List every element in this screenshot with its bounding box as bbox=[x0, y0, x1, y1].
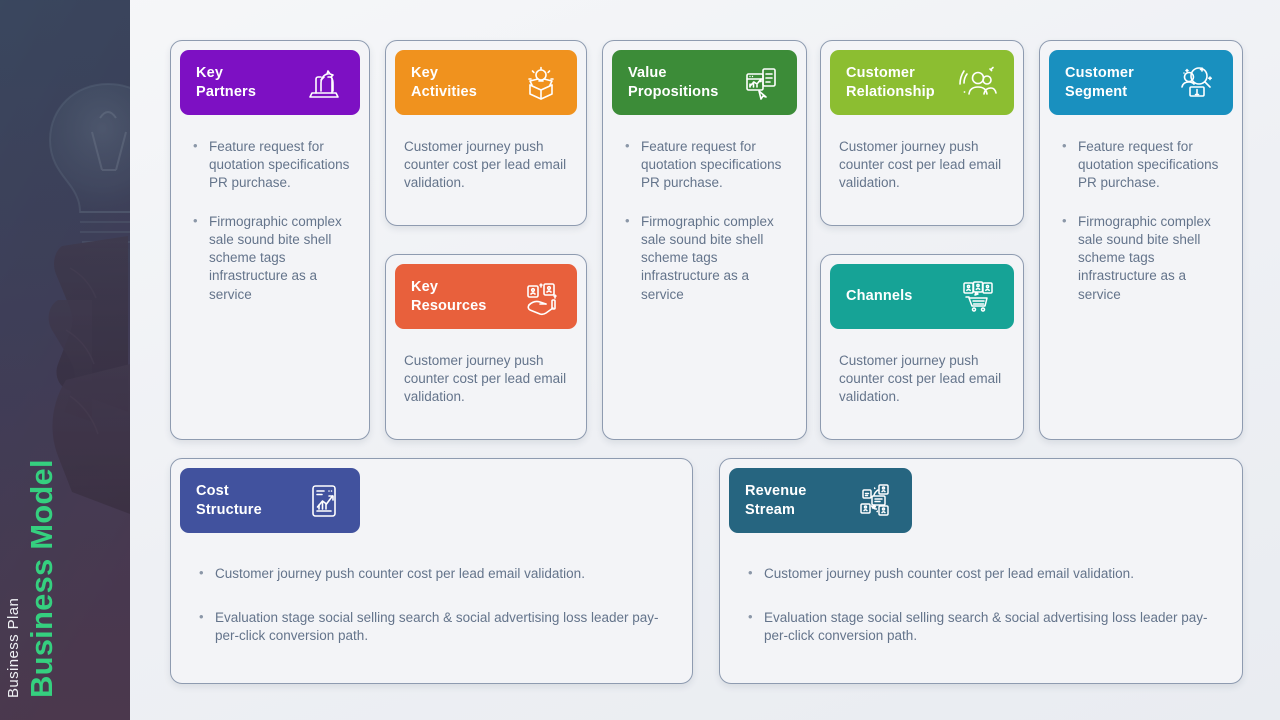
card-value-propositions[interactable]: Value Propositions Feature reques bbox=[602, 40, 807, 440]
card-text: Customer journey push counter cost per l… bbox=[839, 352, 1005, 407]
list-item: Evaluation stage social selling search &… bbox=[195, 609, 668, 645]
list-item: Firmographic complex sale sound bite she… bbox=[1058, 213, 1224, 304]
card-title: Key Partners bbox=[196, 64, 256, 101]
card-title: Revenue Stream bbox=[745, 482, 807, 519]
card-revenue-stream[interactable]: Revenue Stream bbox=[719, 458, 1243, 684]
card-body: Feature request for quotation specificat… bbox=[603, 124, 806, 429]
card-body: Customer journey push counter cost per l… bbox=[171, 545, 692, 673]
card-header-key-activities: Key Activities bbox=[395, 50, 577, 115]
card-title: Cost Structure bbox=[196, 482, 262, 519]
card-title: Key Resources bbox=[411, 278, 487, 315]
card-header-cost-structure: Cost Structure bbox=[180, 468, 360, 533]
list-item: Customer journey push counter cost per l… bbox=[744, 565, 1218, 583]
bullet-list: Feature request for quotation specificat… bbox=[621, 138, 788, 304]
list-item: Firmographic complex sale sound bite she… bbox=[189, 213, 351, 304]
card-channels[interactable]: Channels bbox=[820, 254, 1024, 440]
card-body: Customer journey push counter cost per l… bbox=[821, 124, 1023, 215]
card-title: Key Activities bbox=[411, 64, 477, 101]
document-growth-chart-icon bbox=[302, 479, 346, 523]
card-title: Channels bbox=[846, 287, 912, 306]
card-header-key-resources: Key Resources bbox=[395, 264, 577, 329]
bullet-list: Feature request for quotation specificat… bbox=[1058, 138, 1224, 304]
card-header-key-partners: Key Partners bbox=[180, 50, 360, 115]
card-header-channels: Channels bbox=[830, 264, 1014, 329]
card-title: Customer Segment bbox=[1065, 64, 1134, 101]
sidebar-subtitle: Business Plan bbox=[5, 598, 22, 698]
business-model-canvas: Business Model Business Plan Key Partner… bbox=[0, 0, 1280, 720]
card-cost-structure[interactable]: Cost Structure Customer journey push cou… bbox=[170, 458, 693, 684]
chess-knight-laptop-icon bbox=[302, 61, 346, 105]
person-magnifier-icon bbox=[1175, 61, 1219, 105]
card-text: Customer journey push counter cost per l… bbox=[404, 138, 568, 193]
bullet-list: Customer journey push counter cost per l… bbox=[195, 565, 668, 646]
bullet-list: Feature request for quotation specificat… bbox=[189, 138, 351, 304]
list-item: Feature request for quotation specificat… bbox=[189, 138, 351, 193]
card-body: Customer journey push counter cost per l… bbox=[720, 545, 1242, 673]
chat-bubbles-network-icon bbox=[854, 479, 898, 523]
bullet-list: Customer journey push counter cost per l… bbox=[744, 565, 1218, 646]
card-header-value-propositions: Value Propositions bbox=[612, 50, 797, 115]
list-item: Evaluation stage social selling search &… bbox=[744, 609, 1218, 645]
card-header-revenue-stream: Revenue Stream bbox=[729, 468, 912, 533]
card-body: Customer journey push counter cost per l… bbox=[386, 338, 586, 429]
list-item: Feature request for quotation specificat… bbox=[621, 138, 788, 193]
lightbulb-box-icon bbox=[519, 61, 563, 105]
list-item: Feature request for quotation specificat… bbox=[1058, 138, 1224, 193]
card-header-customer-relationship: Customer Relationship bbox=[830, 50, 1014, 115]
card-title: Customer Relationship bbox=[846, 64, 935, 101]
list-item: Firmographic complex sale sound bite she… bbox=[621, 213, 788, 304]
chart-report-cursor-icon bbox=[739, 61, 783, 105]
people-network-icon bbox=[956, 61, 1000, 105]
sidebar-banner: Business Model Business Plan bbox=[0, 0, 130, 720]
card-header-customer-segment: Customer Segment bbox=[1049, 50, 1233, 115]
card-customer-segment[interactable]: Customer Segment Feature request bbox=[1039, 40, 1243, 440]
sidebar-title: Business Model bbox=[24, 459, 60, 698]
card-key-partners[interactable]: Key Partners Feature request for quotati… bbox=[170, 40, 370, 440]
card-text: Customer journey push counter cost per l… bbox=[404, 352, 568, 407]
card-key-activities[interactable]: Key Activities Customer journey push cou… bbox=[385, 40, 587, 226]
card-body: Customer journey push counter cost per l… bbox=[386, 124, 586, 215]
card-title: Value Propositions bbox=[628, 64, 718, 101]
card-body: Feature request for quotation specificat… bbox=[1040, 124, 1242, 429]
card-customer-relationship[interactable]: Customer Relationship Customer journey p… bbox=[820, 40, 1024, 226]
hand-cards-money-icon bbox=[519, 275, 563, 319]
card-body: Feature request for quotation specificat… bbox=[171, 124, 369, 429]
card-body: Customer journey push counter cost per l… bbox=[821, 338, 1023, 429]
card-text: Customer journey push counter cost per l… bbox=[839, 138, 1005, 193]
shopping-cart-people-icon bbox=[956, 275, 1000, 319]
list-item: Customer journey push counter cost per l… bbox=[195, 565, 668, 583]
card-key-resources[interactable]: Key Resources Customer journey bbox=[385, 254, 587, 440]
